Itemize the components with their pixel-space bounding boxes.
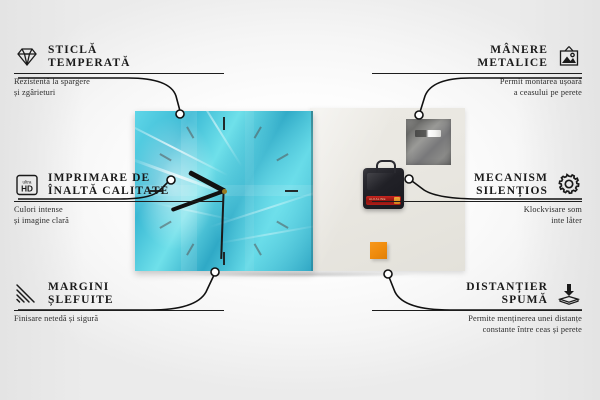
- svg-text:HD: HD: [21, 185, 33, 194]
- callout-imprimare-inalta-calitate: ultra HD IMPRIMARE DE ÎNALTĂ CALITATE Cu…: [14, 172, 224, 226]
- foam-spacer-icon: [556, 282, 582, 306]
- callout-title: IMPRIMARE DE ÎNALTĂ CALITATE: [48, 172, 169, 198]
- callout-title: MÂNERE METALICE: [477, 44, 548, 70]
- callout-distantier-spuma: DISTANȚIER SPUMĂ Permite menținerea unei…: [372, 281, 582, 335]
- metal-hanger-plate: [406, 119, 451, 165]
- callout-subtitle: Finisare netedă și sigură: [14, 314, 224, 325]
- callout-subtitle: Klockvisare som inte låter: [372, 205, 582, 226]
- callout-title: DISTANȚIER SPUMĂ: [466, 281, 548, 307]
- hanger-slot: [415, 130, 441, 137]
- polished-edges-icon: [14, 282, 40, 306]
- diamond-icon: [14, 45, 40, 69]
- callout-header: DISTANȚIER SPUMĂ: [372, 281, 582, 307]
- callout-title: MARGINI ȘLEFUITE: [48, 281, 114, 307]
- ultra-hd-icon: ultra HD: [14, 173, 40, 197]
- callout-title: MECANISM SILENȚIOS: [474, 172, 548, 198]
- callout-manere-metalice: MÂNERE METALICE Permit montarea ușoară a…: [372, 44, 582, 98]
- callout-subtitle: Permite menținerea unei distanțe constan…: [372, 314, 582, 335]
- clock-tick: [224, 190, 298, 192]
- callout-mecanism-silentios: MECANISM SILENȚIOS Klockvisare som inte …: [372, 172, 582, 226]
- hanging-frame-icon: [556, 45, 582, 69]
- callout-sticla-temperata: STICLĂ TEMPERATĂ Rezistentă la spargere …: [14, 44, 224, 98]
- callout-subtitle: Rezistentă la spargere și zgârieturi: [14, 77, 224, 98]
- infographic-canvas: ALKALINE: [0, 0, 600, 400]
- callout-rule: [14, 310, 224, 311]
- callout-rule: [372, 201, 582, 202]
- callout-header: MECANISM SILENȚIOS: [372, 172, 582, 198]
- callout-header: STICLĂ TEMPERATĂ: [14, 44, 224, 70]
- callout-subtitle: Permit montarea ușoară a ceasului pe per…: [372, 77, 582, 98]
- foam-spacer-part: [370, 242, 387, 259]
- callout-title: STICLĂ TEMPERATĂ: [48, 44, 131, 70]
- callout-header: MÂNERE METALICE: [372, 44, 582, 70]
- gear-icon: [556, 173, 582, 197]
- callout-subtitle: Culori intense și imagine clară: [14, 205, 224, 226]
- callout-margini-slefuite: MARGINI ȘLEFUITE Finisare netedă și sigu…: [14, 281, 224, 325]
- callout-rule: [372, 73, 582, 74]
- panel-divider: [311, 111, 313, 271]
- callout-rule: [14, 73, 224, 74]
- callout-rule: [372, 310, 582, 311]
- callout-header: MARGINI ȘLEFUITE: [14, 281, 224, 307]
- callout-header: ultra HD IMPRIMARE DE ÎNALTĂ CALITATE: [14, 172, 224, 198]
- callout-rule: [14, 201, 224, 202]
